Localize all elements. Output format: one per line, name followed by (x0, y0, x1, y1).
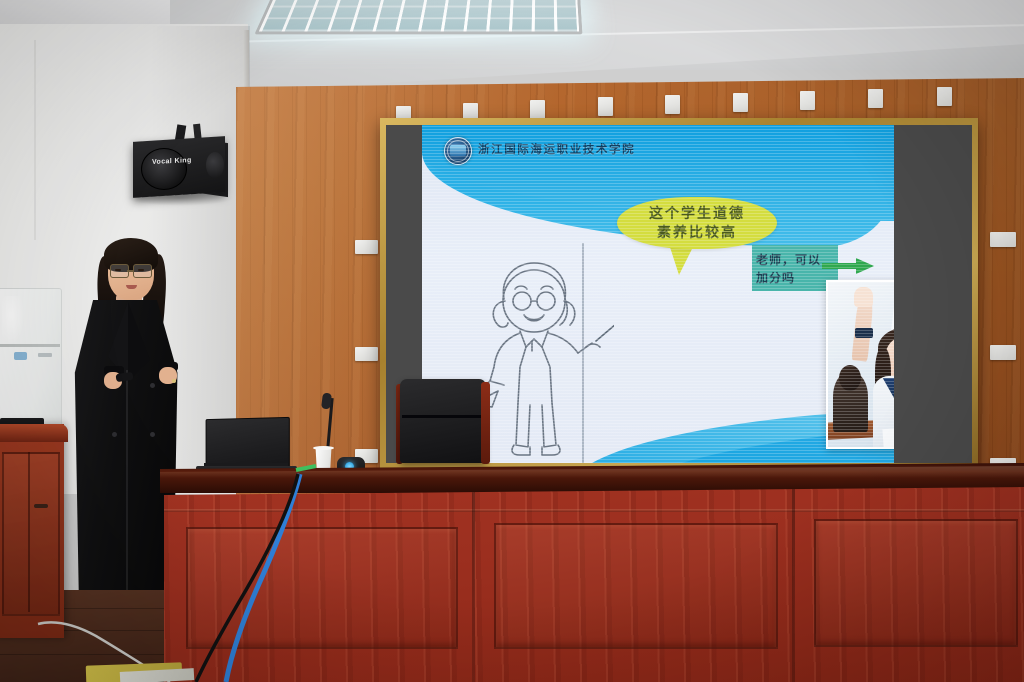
cable-connector (296, 466, 316, 470)
power-cable (196, 474, 298, 682)
cable-group (0, 0, 1024, 682)
screenshot-scene: Vocal King 浙江国际海运职业技术学院 (0, 0, 1024, 682)
